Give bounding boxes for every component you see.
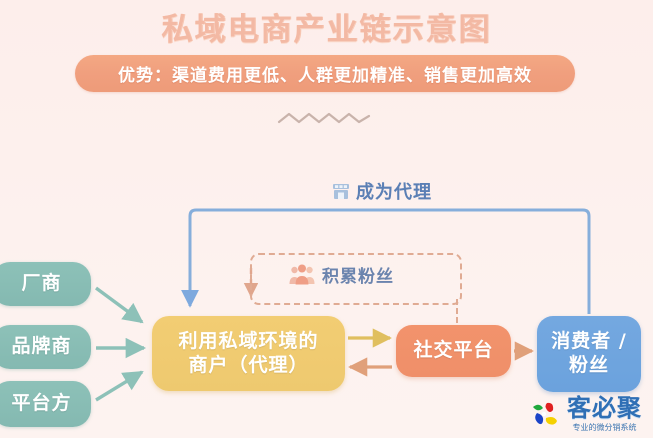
- advantage-banner-text: 优势：渠道费用更低、人群更加精准、销售更加高效: [118, 61, 532, 86]
- node-social-platform[interactable]: 社交平台: [396, 325, 511, 377]
- store-icon: [332, 183, 350, 200]
- diagram-canvas: 私域电商产业链示意图 优势：渠道费用更低、人群更加精准、销售更加高效: [0, 0, 653, 438]
- node-brand[interactable]: 品牌商: [0, 325, 91, 369]
- accumulate-fans-connector-stem: [456, 299, 458, 323]
- node-merchant[interactable]: 利用私域环境的 商户（代理）: [152, 316, 345, 391]
- brand-logo-text: 客必聚 专业的微分销系统: [567, 396, 642, 433]
- node-merchant-label-line1: 利用私域环境的: [178, 330, 318, 354]
- node-merchant-label-line2: 商户（代理）: [178, 354, 318, 378]
- brand-name: 客必聚: [567, 396, 642, 420]
- advantage-banner: 优势：渠道费用更低、人群更加精准、销售更加高效: [75, 55, 575, 92]
- edge-manufacturer-to-merchant: [96, 288, 142, 322]
- wave-divider-icon: [276, 108, 378, 132]
- brand-tagline: 专业的微分销系统: [573, 422, 637, 433]
- node-manufacturer[interactable]: 厂商: [0, 262, 91, 306]
- node-brand-label: 品牌商: [11, 335, 71, 359]
- page-title: 私域电商产业链示意图: [0, 4, 653, 49]
- people-icon: [289, 264, 315, 285]
- node-platform-label: 平台方: [11, 392, 71, 416]
- node-platform[interactable]: 平台方: [0, 381, 91, 427]
- accumulate-fans-text: 积累粉丝: [322, 262, 394, 287]
- node-manufacturer-label: 厂商: [21, 272, 61, 296]
- edge-platform-to-merchant: [96, 372, 142, 400]
- become-agent-label: 成为代理: [332, 178, 432, 204]
- node-consumer-label-line1: 消费者 /: [551, 330, 627, 354]
- node-consumer-label-line2: 粉丝: [551, 354, 627, 378]
- accumulate-fans-label: 积累粉丝: [289, 262, 394, 287]
- node-consumer[interactable]: 消费者 / 粉丝: [537, 316, 641, 392]
- pinwheel-logo-icon: [527, 397, 563, 433]
- node-social-platform-label: 社交平台: [413, 339, 493, 363]
- become-agent-text: 成为代理: [356, 178, 432, 204]
- brand-logo: 客必聚 专业的微分销系统: [527, 396, 642, 433]
